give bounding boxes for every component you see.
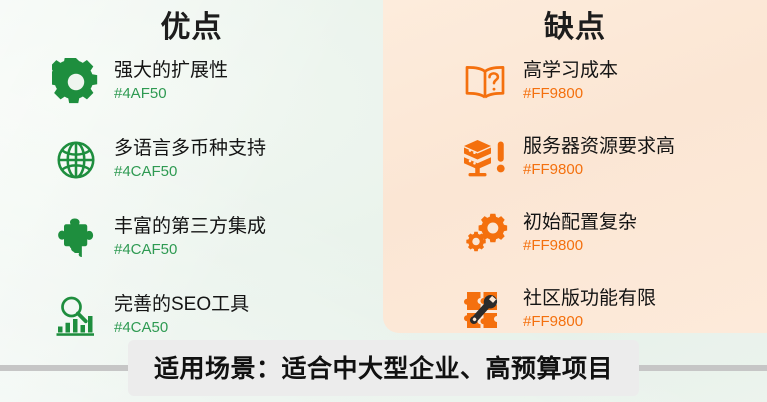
puzzle-wrench-icon xyxy=(461,286,509,334)
list-item-code: #FF9800 xyxy=(523,236,637,256)
list-item-code: #4CAF50 xyxy=(114,162,266,182)
list-item-code: #FF9800 xyxy=(523,84,618,104)
server-alert-icon xyxy=(461,134,509,182)
gears-icon xyxy=(461,210,509,258)
list-item-text: 服务器资源要求高 #FF9800 xyxy=(523,136,675,180)
list-item-text: 强大的扩展性 #4AF50 xyxy=(114,60,228,104)
list-item-text: 丰富的第三方集成 #4CAF50 xyxy=(114,216,266,260)
list-item-text: 社区版功能有限 #FF9800 xyxy=(523,288,656,332)
list-item-text: 初始配置复杂 #FF9800 xyxy=(523,212,637,256)
puzzle-icon xyxy=(52,214,100,262)
list-item-label: 完善的SEO工具 xyxy=(114,294,249,316)
list-item-code: #FF9800 xyxy=(523,312,656,332)
cons-panel: 缺点 高学习成本 #FF9800 xyxy=(383,0,767,333)
scenario-banner-row: 适用场景：适合中大型企业、高预算项目 xyxy=(0,333,767,402)
pros-item-list: 强大的扩展性 #4AF50 多语言多币种支持 #4CAF50 xyxy=(0,50,383,348)
list-item[interactable]: 丰富的第三方集成 #4CAF50 xyxy=(52,206,383,270)
gear-icon xyxy=(52,58,100,106)
list-item[interactable]: 高学习成本 #FF9800 xyxy=(461,50,767,114)
list-item-label: 强大的扩展性 xyxy=(114,60,228,82)
list-item[interactable]: 服务器资源要求高 #FF9800 xyxy=(461,126,767,190)
list-item-label: 服务器资源要求高 xyxy=(523,136,675,158)
list-item-label: 社区版功能有限 xyxy=(523,288,656,310)
list-item-label: 初始配置复杂 xyxy=(523,212,637,234)
list-item[interactable]: 初始配置复杂 #FF9800 xyxy=(461,202,767,266)
pros-panel: 优点 强大的扩展性 #4AF50 xyxy=(0,0,383,333)
list-item-label: 多语言多币种支持 xyxy=(114,138,266,160)
globe-icon xyxy=(52,136,100,184)
scenario-banner: 适用场景：适合中大型企业、高预算项目 xyxy=(128,340,639,396)
cons-title: 缺点 xyxy=(383,2,767,46)
list-item-text: 多语言多币种支持 #4CAF50 xyxy=(114,138,266,182)
banner-rule-right xyxy=(617,365,767,371)
list-item[interactable]: 多语言多币种支持 #4CAF50 xyxy=(52,128,383,192)
book-question-icon xyxy=(461,58,509,106)
list-item-label: 高学习成本 xyxy=(523,60,618,82)
list-item-label: 丰富的第三方集成 xyxy=(114,216,266,238)
list-item-code: #4AF50 xyxy=(114,84,228,104)
cons-item-list: 高学习成本 #FF9800 xyxy=(383,50,767,342)
list-item-code: #FF9800 xyxy=(523,160,675,180)
list-item-text: 完善的SEO工具 #4CA50 xyxy=(114,294,249,338)
pros-title: 优点 xyxy=(0,2,383,46)
list-item-code: #4CAF50 xyxy=(114,240,266,260)
list-item[interactable]: 强大的扩展性 #4AF50 xyxy=(52,50,383,114)
list-item-text: 高学习成本 #FF9800 xyxy=(523,60,618,104)
